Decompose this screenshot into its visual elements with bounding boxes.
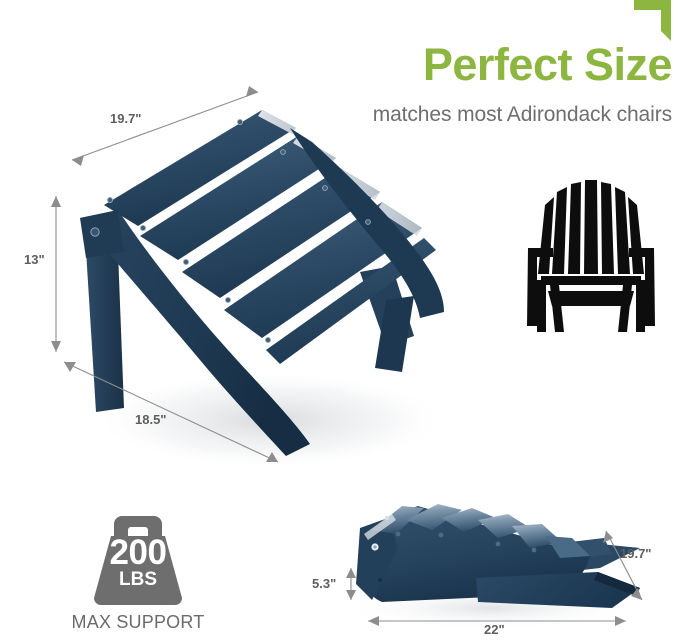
dimension-label-depth: 18.5"	[135, 412, 166, 427]
dimension-label-folded-depth: 19.7"	[620, 546, 651, 561]
max-weight-value: 200	[90, 535, 186, 571]
dimension-label-folded-height: 5.3"	[312, 576, 336, 591]
dimension-label-width: 19.7"	[110, 111, 141, 126]
dimension-label-height: 13"	[24, 252, 45, 267]
max-weight-unit: LBS	[90, 570, 186, 590]
page-subtitle: matches most Adirondack chairs	[270, 101, 672, 128]
corner-bracket-icon	[634, 0, 671, 41]
product-dimensions-infographic: Perfect Size matches most Adirondack cha…	[0, 0, 679, 641]
page-title: Perfect Size	[330, 38, 672, 92]
dimension-label-folded-width: 22"	[484, 622, 505, 637]
max-support-caption: MAX SUPPORT	[48, 611, 228, 633]
adirondack-chair-silhouette	[524, 176, 658, 339]
